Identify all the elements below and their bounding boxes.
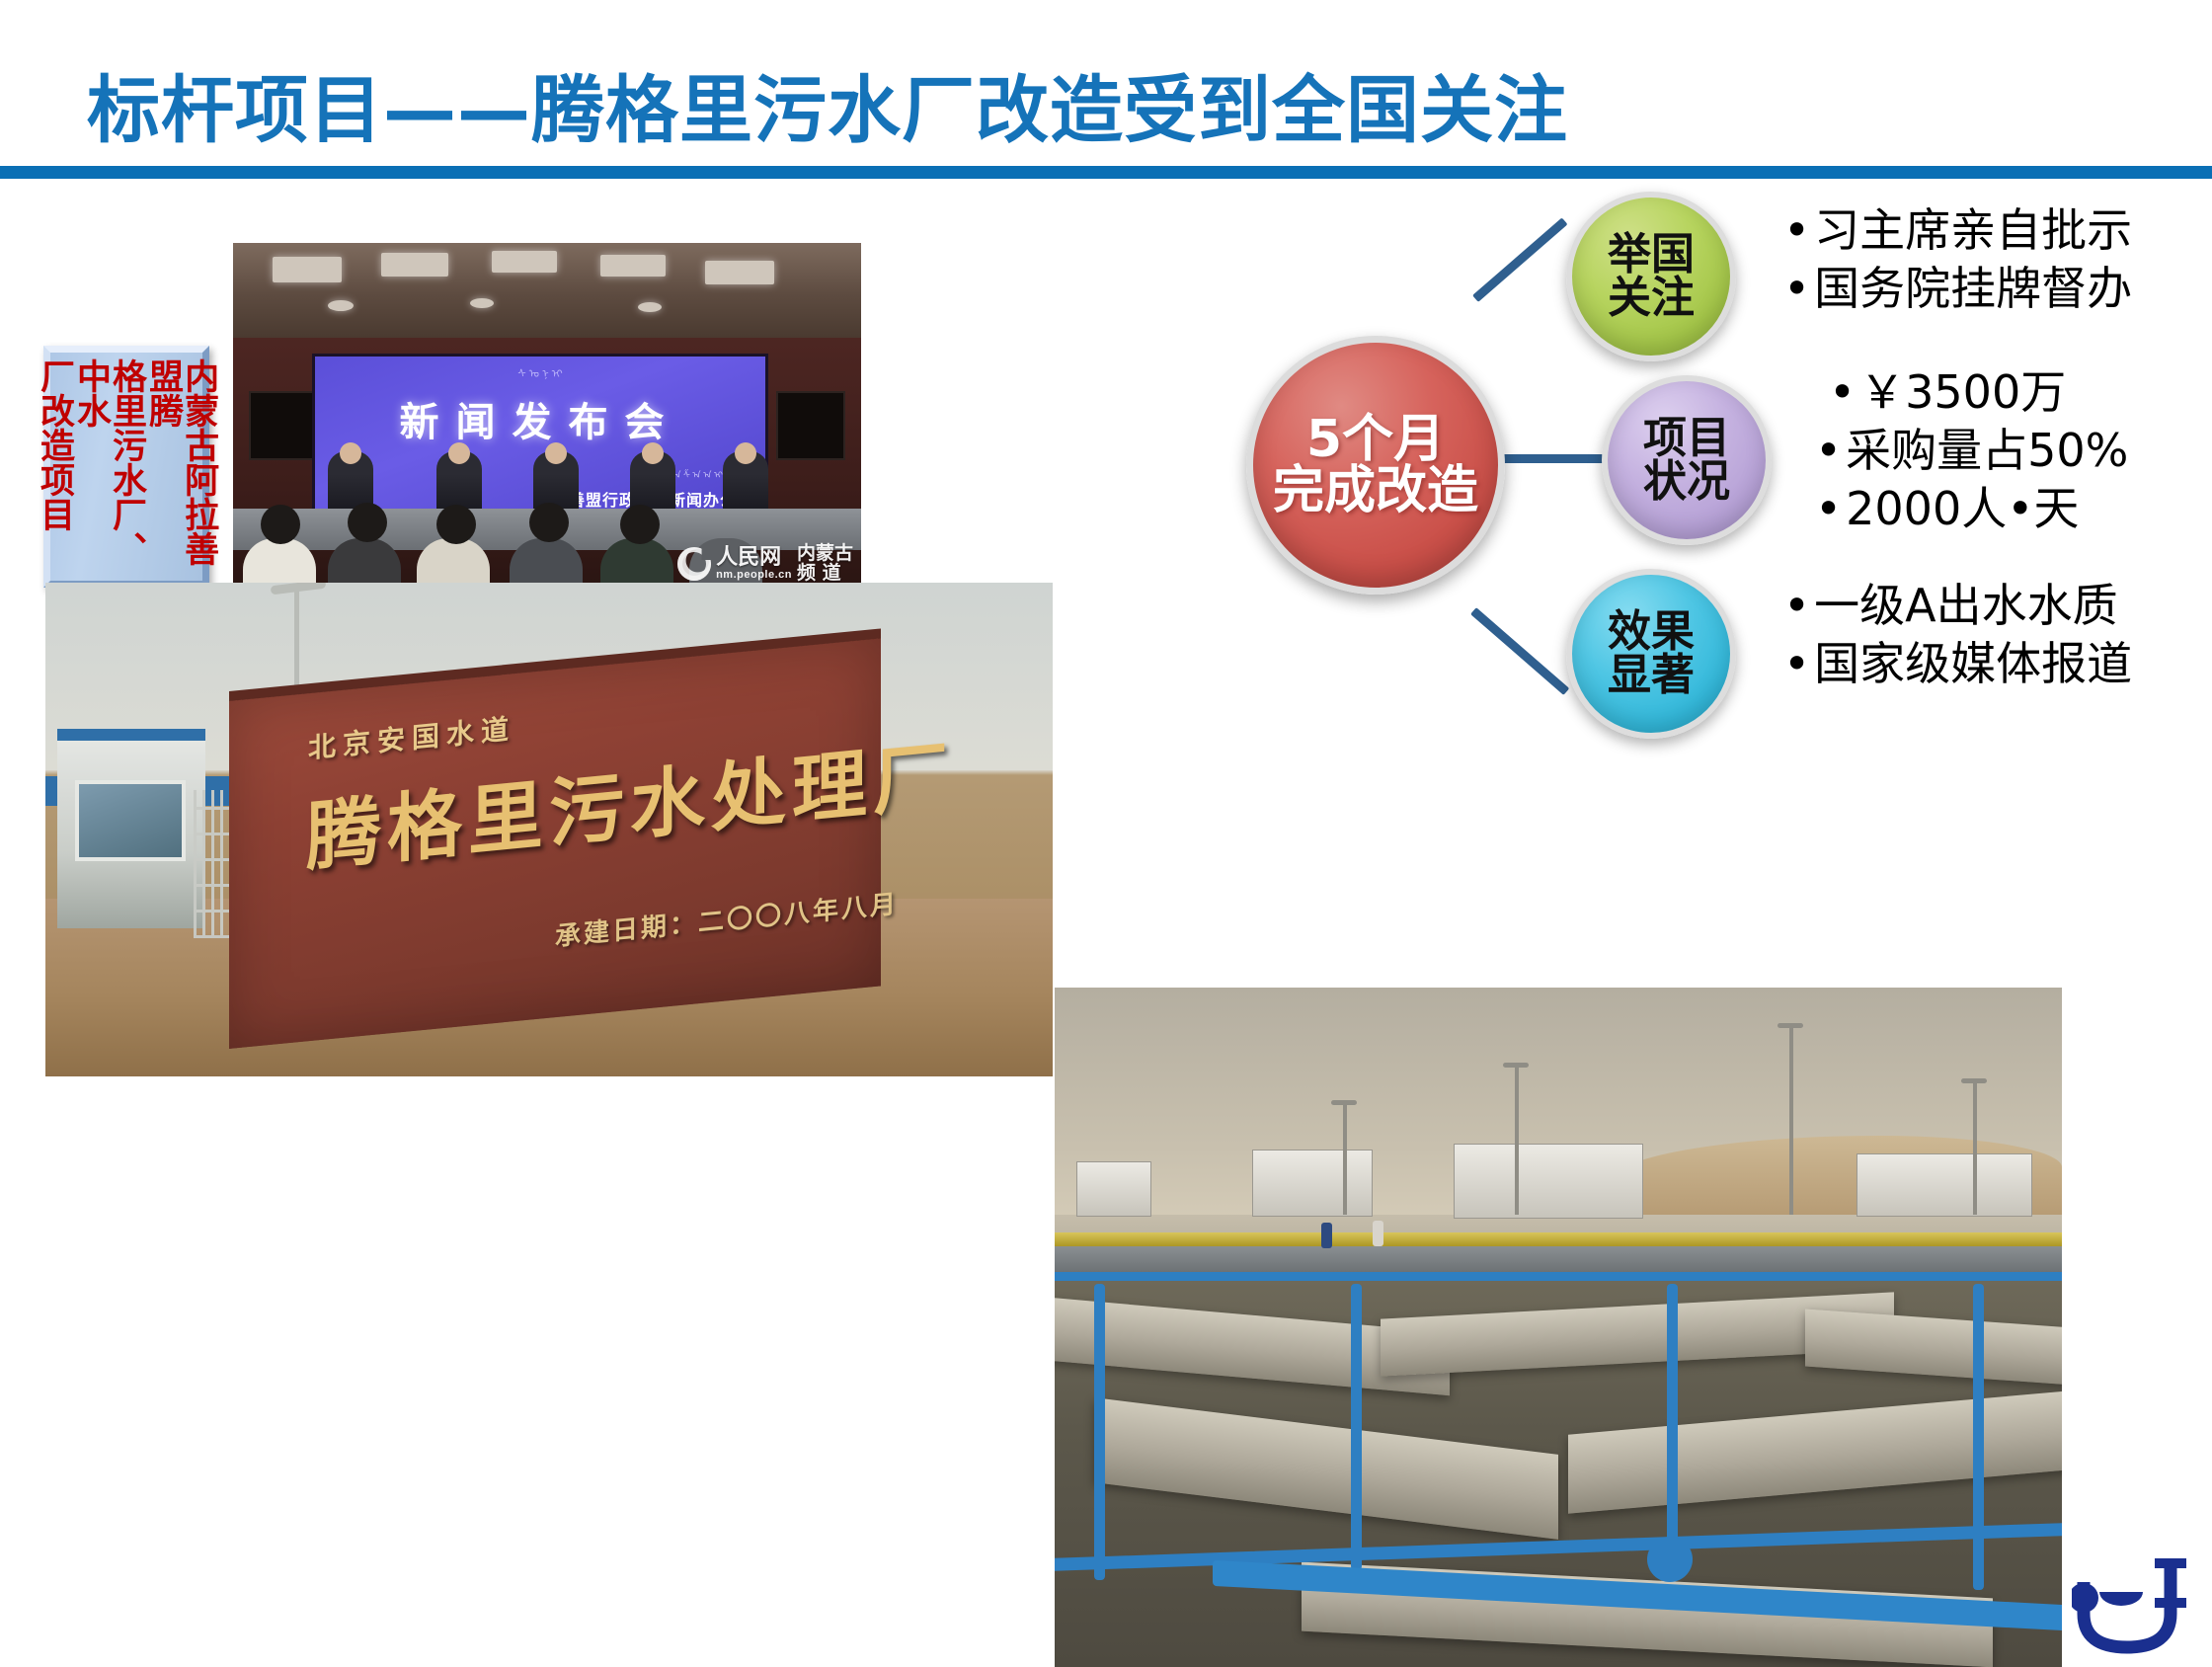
project-caption-box: 内蒙古阿拉善盟腾 格里污水厂、中水 厂改造项目: [43, 346, 209, 588]
caption-column-1: 内蒙古阿拉善盟腾: [145, 358, 216, 575]
ceiling: [233, 243, 861, 338]
sign-line-1: 北京安国水道: [308, 707, 515, 766]
worker: [1373, 1221, 1383, 1246]
connector-center-to-purple: [1489, 454, 1608, 463]
node-national-attention[interactable]: 举国 关注: [1566, 192, 1736, 361]
light-pole: [1973, 1082, 1977, 1215]
watermark-url: nm.people.cn: [716, 569, 792, 581]
ceiling-light: [381, 253, 448, 277]
ceiling-light: [492, 251, 557, 273]
screen-mongolian-script: ᠰ ᠤ ᠨ ᠢ: [315, 357, 765, 386]
company-logo-icon: [2072, 1543, 2190, 1659]
guard-house: [57, 729, 205, 928]
plant-building: [1856, 1153, 2032, 1217]
panelist: [723, 451, 768, 509]
node-purple-line2: 状况: [1643, 460, 1730, 504]
plant-building: [1252, 1150, 1373, 1217]
results-diagram: 5个月 完成改造 举国 关注 项目 状况 效果 显著 习主席亲自批示: [1234, 178, 2212, 889]
yellow-pipe: [1055, 1232, 2062, 1247]
audience-head: [620, 505, 660, 544]
audience-head: [348, 503, 387, 542]
node-green-line1: 举国: [1608, 233, 1695, 277]
audience-head: [261, 505, 300, 544]
audience-member: [417, 538, 490, 588]
handrail-post: [1351, 1284, 1362, 1570]
people-cn-watermark: 人民网 nm.people.cn 内蒙古 频 道: [677, 544, 853, 584]
panelist: [436, 451, 482, 509]
light-pole: [1789, 1027, 1793, 1215]
plant-sign-photo: 北京安国水道 腾格里污水处理厂 承建日期：二〇〇八年八月: [45, 583, 1053, 1076]
node-notable-results[interactable]: 效果 显著: [1566, 569, 1736, 739]
caption-column-3: 厂改造项目: [37, 358, 72, 575]
light-lamp-icon: [1777, 1023, 1803, 1028]
bullet-item: 习主席亲自批示: [1783, 201, 2132, 260]
walkway: [1055, 1246, 2062, 1272]
watermark-channel-2: 频 道: [797, 564, 853, 584]
audience-member: [600, 538, 673, 588]
handrail-post: [1667, 1284, 1678, 1580]
valve-wheel-icon: [1647, 1537, 1693, 1582]
bullet-item: 国务院挂牌督办: [1783, 260, 2132, 318]
light-lamp-icon: [1503, 1063, 1529, 1068]
ceiling-light: [600, 255, 666, 277]
slide-root: 标杆项目——腾格里污水厂改造受到全国关注 内蒙古阿拉善盟腾 格里污水厂、中水 厂…: [0, 0, 2212, 1667]
caption-column-2: 格里污水厂、中水: [73, 358, 144, 575]
sign-wall: 北京安国水道 腾格里污水处理厂 承建日期：二〇〇八年八月: [229, 638, 881, 1049]
sign-line-3: 承建日期：二〇〇八年八月: [555, 884, 899, 954]
connector-center-to-cyan: [1470, 607, 1569, 695]
connector-center-to-green: [1472, 217, 1567, 302]
ceiling-light: [273, 257, 342, 282]
node-green-line2: 关注: [1608, 277, 1695, 320]
ceiling-spot: [470, 298, 494, 308]
node-cyan-line2: 显著: [1608, 654, 1695, 697]
panelist: [328, 451, 373, 509]
light-lamp-icon: [1961, 1078, 1987, 1083]
aeration-tanks-photo: [1055, 988, 2062, 1667]
bullet-item: 2000人•天: [1815, 480, 2128, 538]
panelist: [533, 451, 579, 509]
screen-headline: 新闻发布会: [315, 390, 765, 447]
worker: [1321, 1223, 1332, 1248]
bullet-item: 一级A出水水质: [1783, 577, 2132, 635]
node-center-line1: 5个月: [1273, 414, 1478, 465]
audience-member: [510, 538, 583, 588]
bullet-item: 采购量占50%: [1815, 422, 2128, 480]
side-panel: [249, 391, 318, 460]
bullets-project-status: ￥3500万 采购量占50% 2000人•天: [1815, 363, 2128, 538]
bullets-national-attention: 习主席亲自批示 国务院挂牌督办: [1783, 201, 2132, 318]
page-title: 标杆项目——腾格里污水厂改造受到全国关注: [87, 51, 1568, 157]
audience-head: [436, 505, 476, 544]
ceiling-spot: [638, 302, 662, 312]
bullet-item: 国家级媒体报道: [1783, 635, 2132, 693]
side-panel: [776, 391, 845, 460]
audience-member: [328, 538, 401, 588]
plant-building: [1454, 1144, 1643, 1219]
watermark-brand: 人民网: [716, 547, 792, 569]
handrail: [1055, 1272, 2062, 1281]
node-center[interactable]: 5个月 完成改造: [1246, 336, 1505, 595]
ceiling-spot: [328, 300, 354, 311]
bullets-notable-results: 一级A出水水质 国家级媒体报道: [1783, 577, 2132, 693]
guard-window: [75, 780, 186, 861]
ceiling-light: [705, 261, 774, 284]
light-lamp-icon: [1331, 1100, 1357, 1105]
panelist: [630, 451, 675, 509]
node-project-status[interactable]: 项目 状况: [1602, 375, 1772, 545]
node-center-line2: 完成改造: [1273, 465, 1478, 516]
audience-member: [243, 538, 316, 588]
node-purple-line1: 项目: [1643, 417, 1730, 460]
light-pole: [1343, 1104, 1347, 1215]
light-pole: [1515, 1067, 1519, 1215]
audience-head: [529, 503, 569, 542]
handrail-post: [1973, 1284, 1984, 1590]
people-cn-logo-icon: [677, 547, 711, 581]
bullet-item: ￥3500万: [1829, 363, 2128, 422]
plant-building: [1076, 1161, 1151, 1217]
press-conference-photo: ᠰ ᠤ ᠨ ᠢ 新闻发布会 ᠠ ᠯ ᠠ ᠱ ᠠ ᠠ ᠢ ᠮ ᠠ ᠭ 阿拉善盟行政…: [233, 243, 861, 588]
handrail-post: [1094, 1284, 1105, 1580]
node-cyan-line1: 效果: [1608, 610, 1695, 654]
